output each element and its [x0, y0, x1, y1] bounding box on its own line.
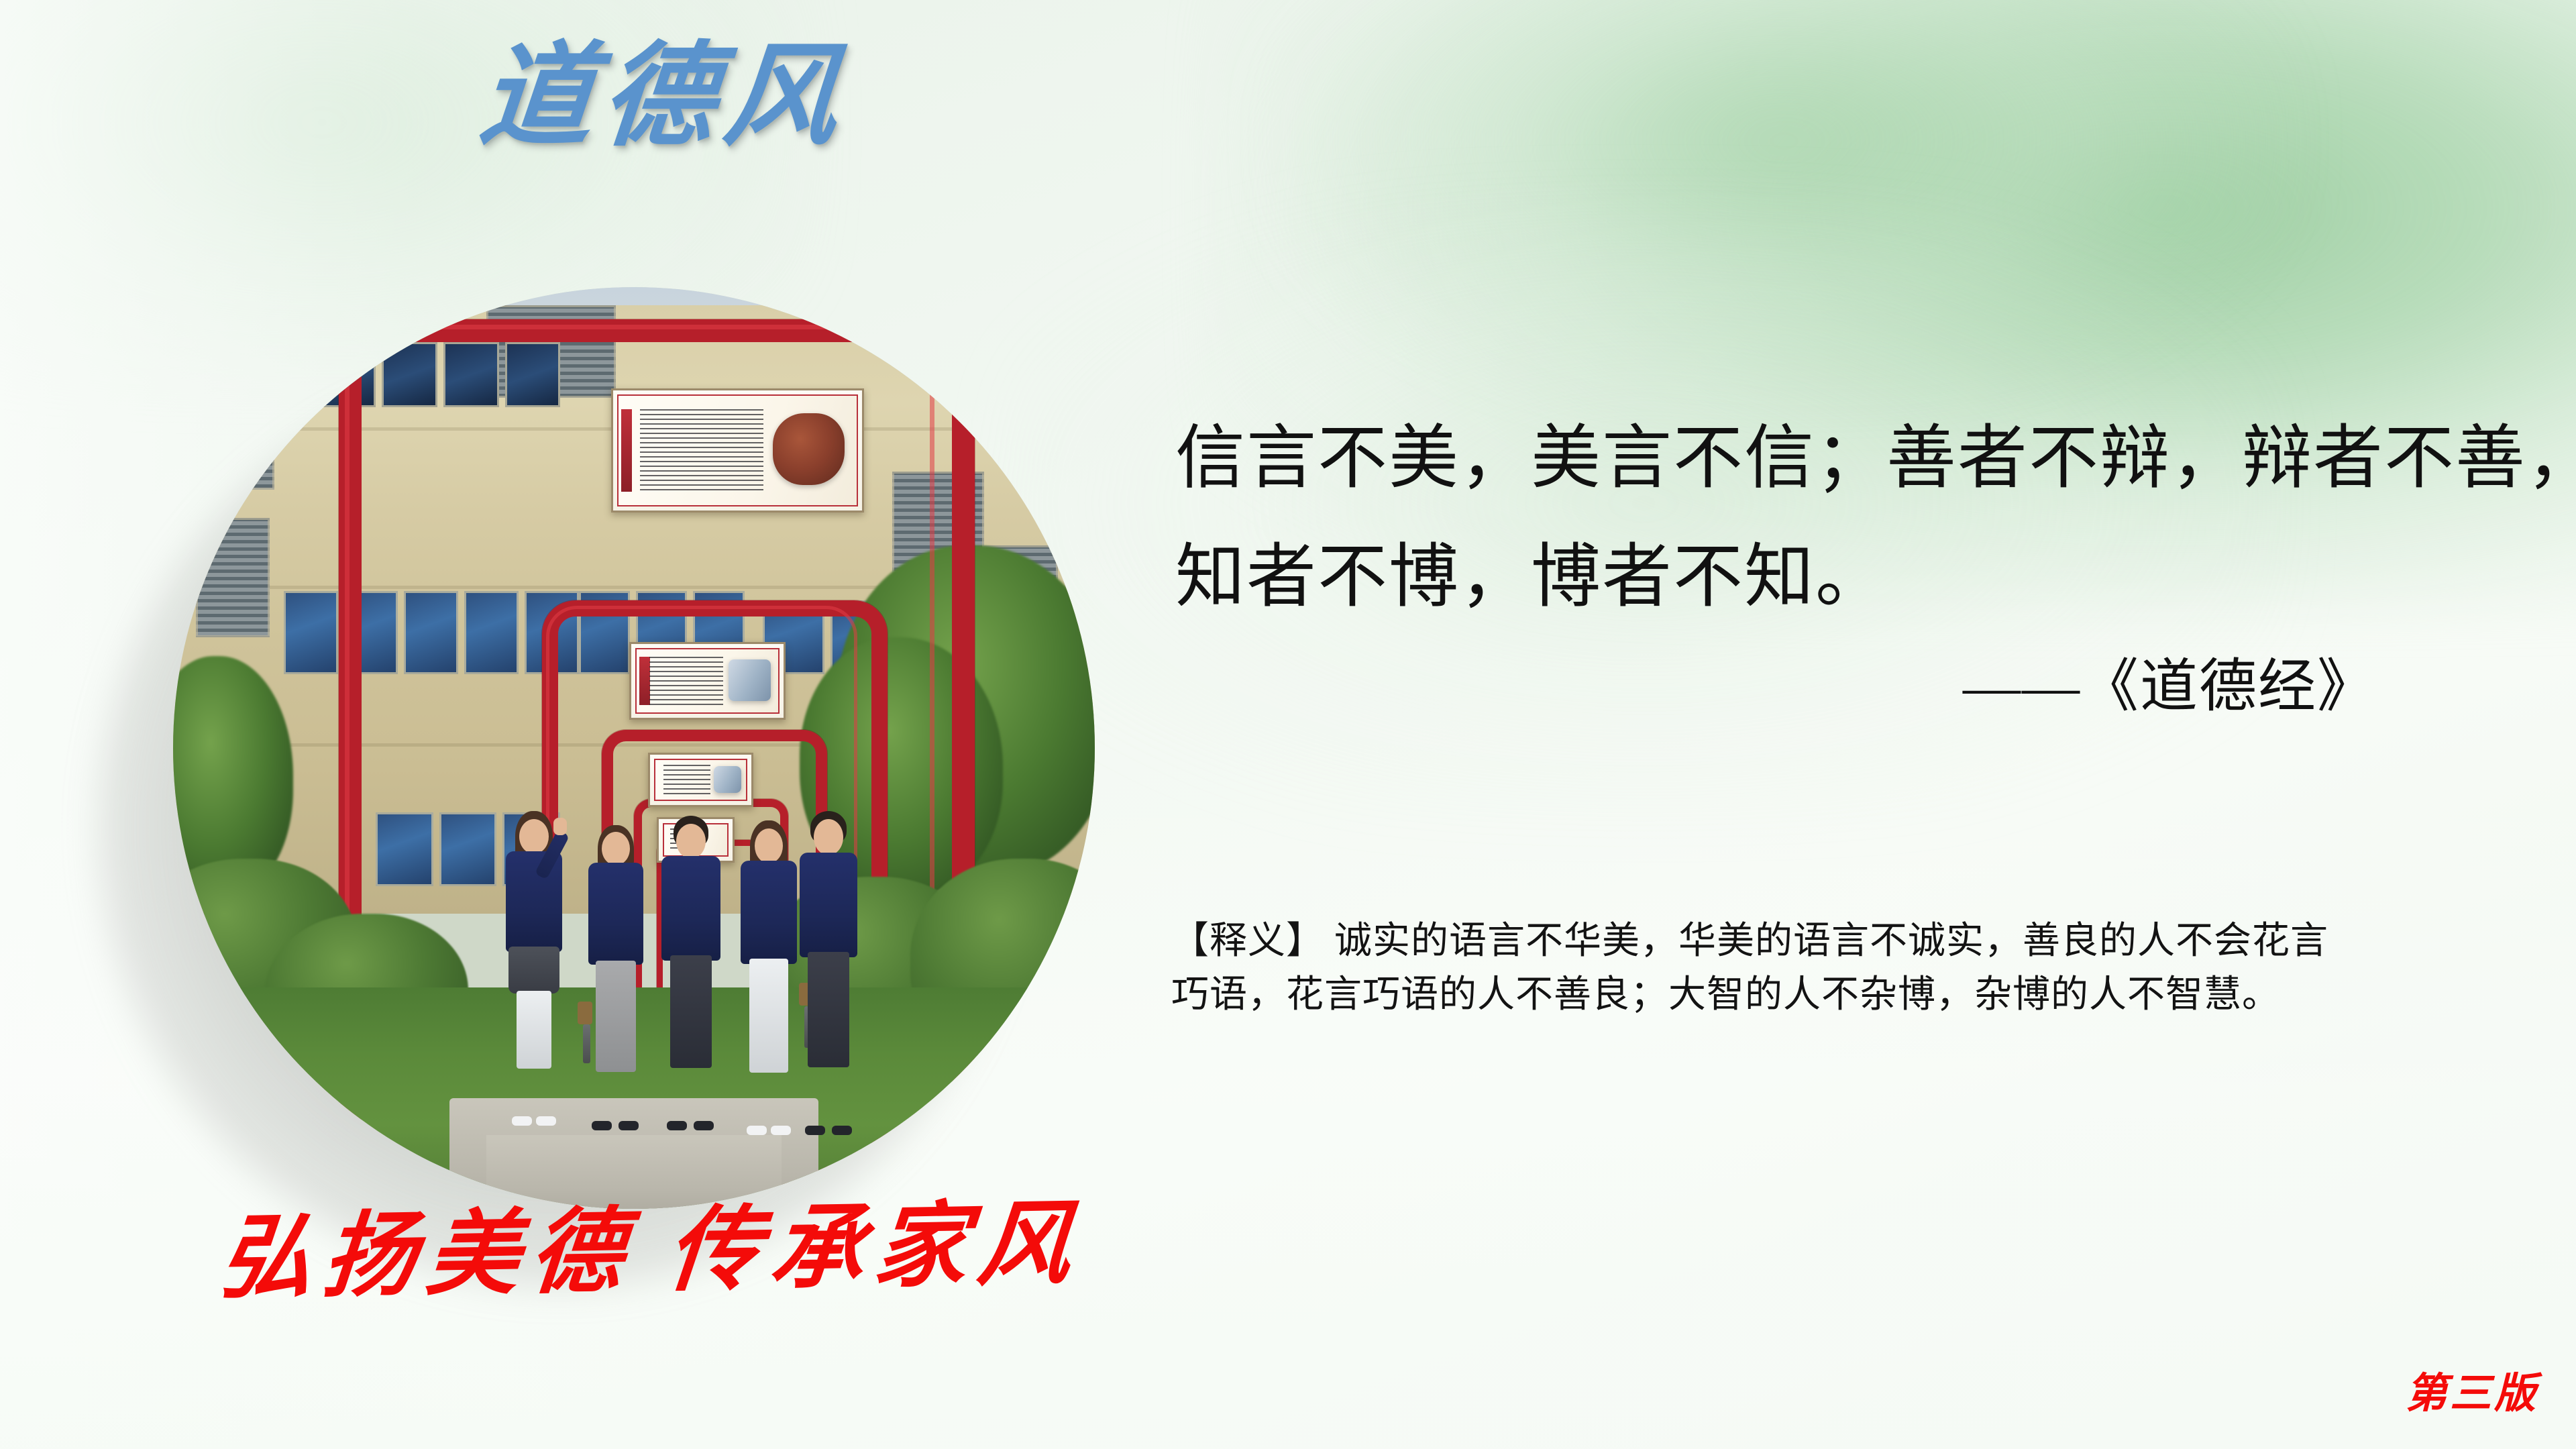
- culture-board-2-tab: [639, 657, 650, 704]
- red-slogan: 弘扬美德 传承家风: [215, 1168, 1088, 1317]
- person-4-shoe: [747, 1126, 767, 1135]
- person-4-head: [755, 828, 783, 863]
- person-5-uniform: [800, 853, 857, 957]
- meaning-line-1: 【释义】 诚实的语言不华美，华美的语言不诚实，善良的人不会花言: [1171, 915, 2526, 969]
- person-2-head: [602, 832, 630, 865]
- photo-person-3: [661, 817, 720, 1130]
- building-louver: [196, 518, 270, 638]
- building-louver: [191, 352, 274, 490]
- person-3-head: [676, 824, 706, 859]
- culture-board-2-inner: [635, 648, 780, 714]
- person-2-legs: [596, 961, 636, 1072]
- culture-board-1-art: [773, 413, 844, 485]
- person-4-shoe: [771, 1126, 791, 1135]
- person-1-shoe: [536, 1116, 556, 1126]
- person-1-pointing-hand: [553, 818, 567, 835]
- culture-board-1-tab: [621, 409, 632, 492]
- meaning-line-2: 巧语，花言巧语的人不善良；大智的人不杂博，杂博的人不智慧。: [1171, 969, 2526, 1022]
- culture-board-1: [611, 388, 864, 513]
- person-1-uniform: [506, 851, 562, 952]
- quotation-line-2: 知者不博，博者不知。: [1175, 519, 2490, 637]
- person-3-shoe: [694, 1121, 714, 1130]
- culture-board-3-inner: [654, 759, 747, 802]
- person-3-uniform: [661, 856, 720, 961]
- circular-photo: [173, 287, 1095, 1209]
- person-2-shoe: [619, 1121, 639, 1130]
- person-5-shoe: [832, 1126, 852, 1135]
- person-2-uniform: [588, 863, 643, 965]
- person-1-shoe: [512, 1116, 532, 1126]
- culture-board-3-art: [714, 766, 741, 792]
- culture-board-3: [648, 753, 753, 808]
- person-5-legs: [808, 952, 849, 1067]
- culture-board-2-text: [649, 657, 723, 704]
- photo-figure: [173, 287, 1095, 1209]
- person-1-skirt: [508, 947, 559, 994]
- culture-board-1-text: [640, 409, 764, 492]
- photo-person-4: [740, 822, 798, 1135]
- person-4-uniform: [741, 861, 797, 964]
- photo-person-1: [505, 812, 563, 1126]
- page-title: 道德风: [475, 39, 851, 156]
- quotation-attribution: ——《道德经》: [1175, 639, 2376, 722]
- culture-board-3-text: [663, 765, 710, 795]
- quotation-line-1: 信言不美，美言不信；善者不辩，辩者不善，: [1175, 400, 2490, 519]
- page-number-marker: 第三版: [2406, 1359, 2538, 1419]
- newspaper-page: 道德风: [0, 0, 2576, 1449]
- person-3-shoe: [667, 1121, 687, 1130]
- person-5-head: [814, 819, 843, 855]
- person-1-legs: [517, 991, 551, 1069]
- person-2-shoe: [592, 1121, 612, 1130]
- person-1-head: [519, 819, 549, 854]
- building-window: [284, 591, 338, 674]
- culture-board-2: [629, 642, 786, 720]
- culture-board-1-inner: [617, 394, 858, 506]
- person-4-legs: [749, 959, 788, 1073]
- person-3-legs: [670, 955, 712, 1068]
- quotation-block: 信言不美，美言不信；善者不辩，辩者不善， 知者不博，博者不知。: [1175, 400, 2490, 637]
- meaning-block: 【释义】 诚实的语言不华美，华美的语言不诚实，善良的人不会花言 巧语，花言巧语的…: [1171, 915, 2526, 1022]
- culture-board-2-art: [729, 659, 771, 701]
- photo-person-5: [800, 812, 857, 1135]
- person-5-shoe: [805, 1126, 825, 1135]
- photo-person-2: [588, 826, 644, 1130]
